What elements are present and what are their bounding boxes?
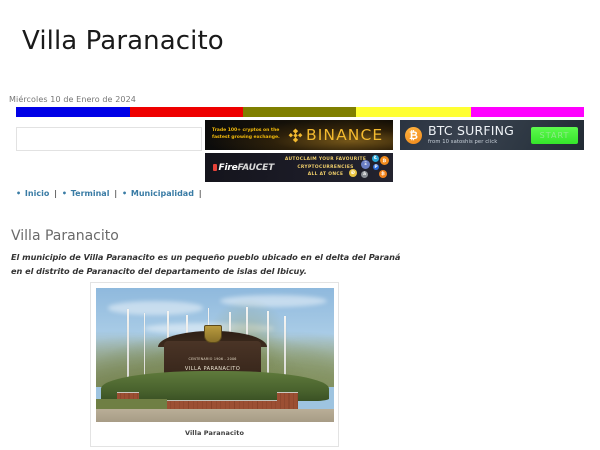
- binance-wordmark: BINANCE: [306, 126, 383, 144]
- firefaucet-mark-icon: [213, 164, 217, 171]
- binance-tagline: Trade 100+ cryptos on the fastest growin…: [205, 128, 286, 141]
- btc-surfing-start-button[interactable]: START: [531, 127, 578, 144]
- empty-ad-slot[interactable]: [16, 127, 202, 151]
- town-entrance-photo: CENTENARIO 1906 - 2006 VILLA PARANACITO: [96, 288, 334, 422]
- content-paragraph: El municipio de Villa Paranacito es un p…: [11, 251, 411, 278]
- btc-surfing-subtitle: from 10 satoshis per click: [428, 139, 531, 145]
- firefaucet-logo: FireFAUCET: [205, 163, 274, 173]
- coin-icon-litecoin: Ł: [372, 155, 379, 162]
- nav-separator-0: |: [54, 189, 57, 198]
- ad-banner-binance[interactable]: Trade 100+ cryptos on the fastest growin…: [205, 120, 393, 150]
- binance-tagline-line2: fastest growing exchange.: [212, 135, 286, 142]
- nav-bullet-icon-0: •: [16, 189, 21, 198]
- ad-banner-btc-surfing[interactable]: ₿ BTC SURFING from 10 satoshis per click…: [400, 120, 584, 150]
- coin-icon-ethereum: Ξ: [361, 160, 370, 169]
- photo-cloud-1: [108, 301, 203, 314]
- nav-bullet-icon-1: •: [62, 189, 67, 198]
- nav-link-terminal[interactable]: Terminal: [71, 189, 110, 198]
- main-navigation: • Inicio | • Terminal | • Municipalidad …: [16, 189, 204, 198]
- bitcoin-coin-icon: ₿: [405, 127, 422, 144]
- photo-town-crest-icon: [204, 325, 222, 343]
- photo-ground: [96, 409, 334, 422]
- color-bar: [16, 107, 584, 117]
- figure-caption: Villa Paranacito: [96, 429, 333, 437]
- photo-sign-line1: CENTENARIO 1906 - 2006: [172, 357, 253, 361]
- binance-diamond-icon: [288, 128, 303, 143]
- figure-card: CENTENARIO 1906 - 2006 VILLA PARANACITO …: [90, 282, 339, 447]
- coin-icon-generic-blue: P: [373, 164, 379, 170]
- nav-bullet-icon-2: •: [122, 189, 127, 198]
- color-bar-segment-blue: [16, 107, 130, 117]
- firefaucet-coin-cluster-icon: Ł ₿ Ξ P Ð â ₿: [346, 155, 390, 180]
- color-bar-segment-yellow: [356, 107, 471, 117]
- btc-surfing-title: BTC SURFING: [428, 125, 531, 138]
- page-title: Villa Paranacito: [22, 28, 224, 54]
- nav-link-municipalidad[interactable]: Municipalidad: [131, 189, 194, 198]
- nav-separator-1: |: [114, 189, 117, 198]
- nav-separator-2: |: [199, 189, 202, 198]
- btc-surfing-texts: BTC SURFING from 10 satoshis per click: [428, 125, 531, 145]
- binance-logo: BINANCE: [288, 126, 383, 144]
- color-bar-segment-red: [130, 107, 243, 117]
- binance-tagline-line1: Trade 100+ cryptos on the: [212, 128, 286, 135]
- ad-banner-firefaucet[interactable]: FireFAUCET AUTOCLAIM YOUR FAVOURITE CRYP…: [205, 153, 393, 182]
- coin-icon-dogecoin: Ð: [349, 169, 357, 177]
- color-bar-segment-magenta: [471, 107, 584, 117]
- coin-icon-bitcoin: ₿: [380, 156, 389, 165]
- coin-icon-orange: ₿: [379, 170, 387, 178]
- firefaucet-brand-part1: Fire: [219, 163, 238, 173]
- coin-icon-grey: â: [361, 171, 368, 178]
- content-heading: Villa Paranacito: [11, 228, 119, 244]
- photo-flagpole-1: [127, 309, 129, 384]
- color-bar-segment-olive: [243, 107, 356, 117]
- firefaucet-brand-part2: FAUCET: [237, 163, 274, 173]
- current-date: Miércoles 10 de Enero de 2024: [9, 95, 136, 104]
- nav-link-inicio[interactable]: Inicio: [25, 189, 49, 198]
